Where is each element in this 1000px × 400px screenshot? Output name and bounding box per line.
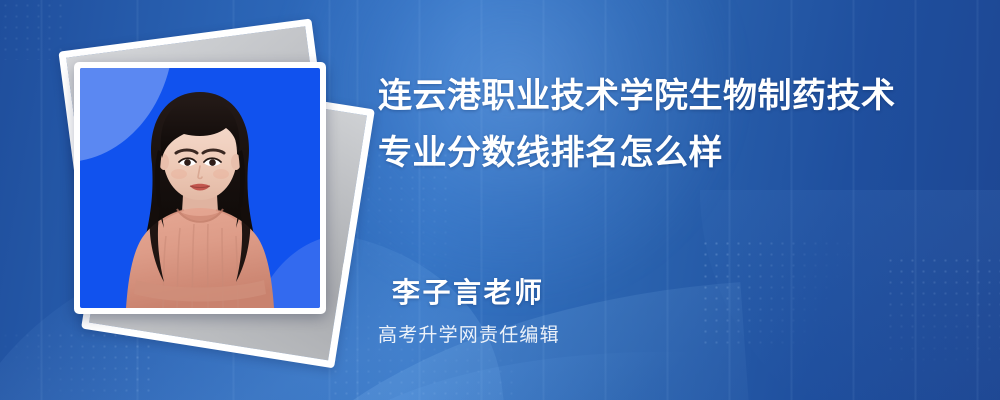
author-portrait-illustration	[80, 68, 320, 308]
page-title-line-2: 专业分数线排名怎么样	[378, 125, 968, 182]
author-role: 高考升学网责任编辑	[378, 320, 560, 347]
text-column: 连云港职业技术学院生物制药技术 专业分数线排名怎么样 李子言老师 高考升学网责任…	[375, 0, 975, 400]
article-cover-banner: 连云港职业技术学院生物制药技术 专业分数线排名怎么样 李子言老师 高考升学网责任…	[0, 0, 1000, 400]
page-title-line-1: 连云港职业技术学院生物制药技术	[378, 68, 968, 125]
author-name: 李子言老师	[392, 271, 545, 311]
author-photo	[80, 68, 320, 308]
author-photo-stack	[50, 28, 360, 378]
page-title: 连云港职业技术学院生物制药技术 专业分数线排名怎么样	[378, 68, 968, 182]
author-photo-card	[74, 62, 326, 314]
